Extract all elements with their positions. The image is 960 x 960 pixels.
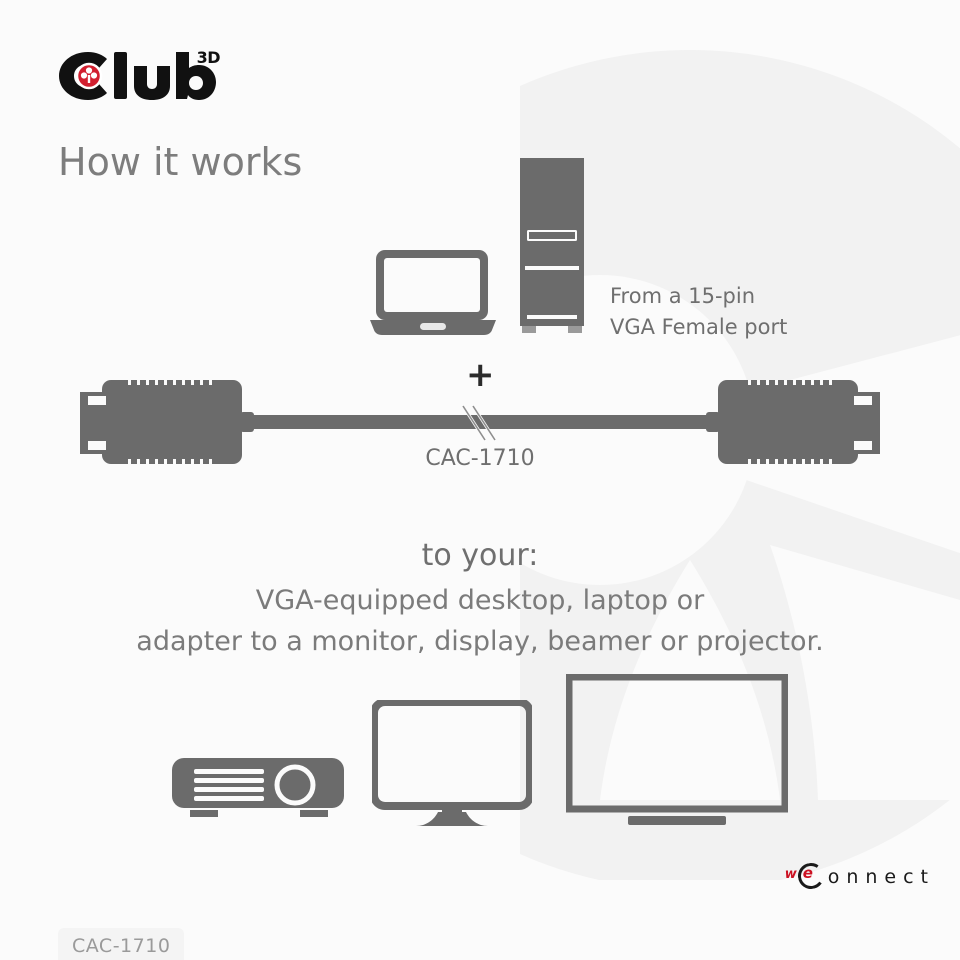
laptop-icon <box>370 248 496 336</box>
destination-description: VGA-equipped desktop, laptop or adapter … <box>0 580 960 662</box>
source-port-note: From a 15-pin VGA Female port <box>610 281 787 343</box>
monitor-icon <box>372 700 532 828</box>
tv-icon <box>566 674 788 828</box>
weconnect-logo: w e onnect <box>785 857 935 891</box>
projector-icon <box>172 758 344 820</box>
club3d-wordmark <box>58 50 218 102</box>
infographic-page: 3D How it works From a 15-pin VGA Female… <box>0 0 960 960</box>
source-port-note-line2: VGA Female port <box>610 312 787 343</box>
weconnect-rest: onnect <box>828 866 935 888</box>
destination-description-line2: adapter to a monitor, display, beamer or… <box>0 621 960 662</box>
weconnect-e: e <box>803 864 813 882</box>
club3d-logo: 3D <box>58 50 218 106</box>
source-port-note-line1: From a 15-pin <box>610 281 787 312</box>
page-title: How it works <box>58 140 302 184</box>
sku-badge: CAC-1710 <box>58 928 184 960</box>
weconnect-c-mark: e <box>798 863 824 889</box>
logo-superscript: 3D <box>197 48 220 67</box>
destination-description-line1: VGA-equipped desktop, laptop or <box>0 580 960 621</box>
destination-heading: to your: <box>0 538 960 573</box>
weconnect-w: w <box>785 867 797 882</box>
cable-label: CAC-1710 <box>0 446 960 471</box>
desktop-tower-icon <box>516 158 588 336</box>
